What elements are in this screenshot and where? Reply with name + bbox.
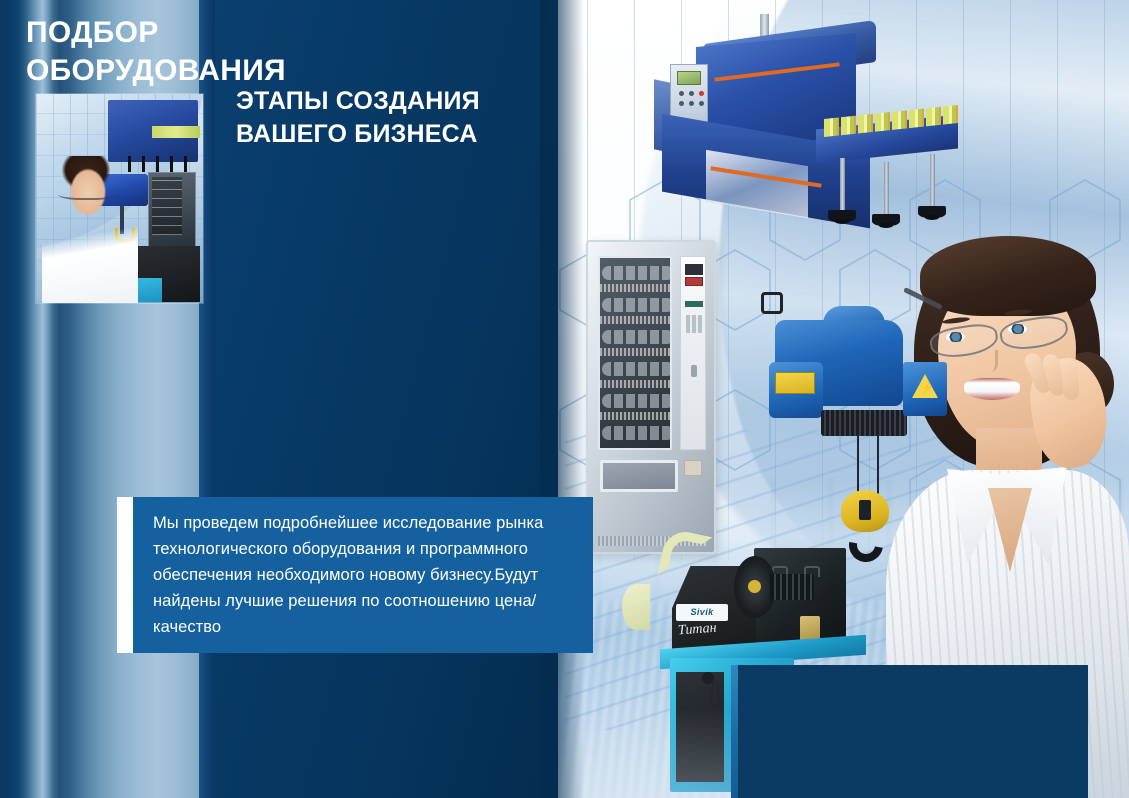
vending-green-strip [685,301,703,307]
thumb-tire-machine [130,246,200,302]
vending-shelf-5 [600,412,672,420]
control-button-2 [689,91,694,96]
thumb-businesswoman [42,156,138,303]
tire-machine-brand-label: Sivik [676,604,728,621]
vending-number-pad [686,315,702,333]
hoist-hook-block [841,490,889,532]
packaging-machine-photo [648,12,966,242]
vending-shelf-3 [600,348,672,356]
hoist-warning-plate [775,372,815,394]
presentation-slide: Титан Sivik ЭТАПЫ СОЗДАНИЯ ВАШЕГО БИЗНЕС… [0,0,1129,798]
tire-machine-shaft [770,574,814,600]
hoist-electrical-box [903,362,947,416]
page-title-line-2: ВАШЕГО БИЗНЕСА [236,118,556,151]
thumb-packaging-machine [108,100,198,162]
callout-box: Мы проведем подробнейшее исследование ры… [117,497,593,653]
electrical-hazard-icon [912,374,938,398]
tire-machine-yellow-rest [622,584,650,630]
vending-display [685,264,703,275]
control-screen [677,71,701,85]
conveyor-foot-1 [828,210,856,222]
footer-title-panel [731,665,1088,798]
hoist-motor [769,362,823,418]
vending-spiral-row-4 [602,362,672,376]
hoist-trolley-bracket [761,292,783,314]
vending-glass-door [598,256,672,450]
vending-shelf-1 [600,284,672,292]
conveyor-foot-2 [872,214,900,226]
page-title: ЭТАПЫ СОЗДАНИЯ ВАШЕГО БИЗНЕСА [236,85,556,151]
tire-machine-model-label: Титан [677,621,717,640]
vending-spiral-row-2 [602,298,672,312]
vending-machine-photo [586,240,716,554]
footer-title-accent-edge [731,665,738,798]
vending-spiral-row-1 [602,266,672,280]
hoist-wire-rope [821,410,907,436]
hoist-cable-1 [857,434,859,496]
vending-return-slot [684,460,702,476]
callout-text: Мы проведем подробнейшее исследование ры… [153,510,581,640]
hoist-cable-2 [877,434,879,496]
footer-title-line-2: ОБОРУДОВАНИЯ [26,52,286,90]
vending-keypad-panel [680,256,706,450]
control-button-6 [699,101,704,106]
collage-thumbnail-image [36,94,203,303]
vending-coin-slot [691,365,697,377]
thumb-conveyor-legs [128,156,198,172]
conveyor-leg-1 [840,158,845,212]
footer-title-line-1: ПОДБОР [26,14,286,52]
callout-accent-bar [117,497,133,653]
conveyor-leg-3 [930,154,935,208]
footer-title: ПОДБОР ОБОРУДОВАНИЯ [26,14,286,91]
vending-spiral-row-3 [602,330,672,344]
vending-shelf-4 [600,380,672,388]
control-button-3 [699,91,704,96]
vending-spiral-row-5 [602,394,672,408]
vending-shelf-2 [600,316,672,324]
vending-product-tray [600,460,678,492]
electric-hoist-photo [765,300,995,530]
control-button-4 [679,101,684,106]
vending-spiral-row-6 [602,426,672,440]
control-button-1 [679,91,684,96]
vending-red-strip [685,277,703,286]
control-button-5 [689,101,694,106]
conveyor-leg-2 [884,162,889,216]
conveyor-foot-3 [918,206,946,218]
